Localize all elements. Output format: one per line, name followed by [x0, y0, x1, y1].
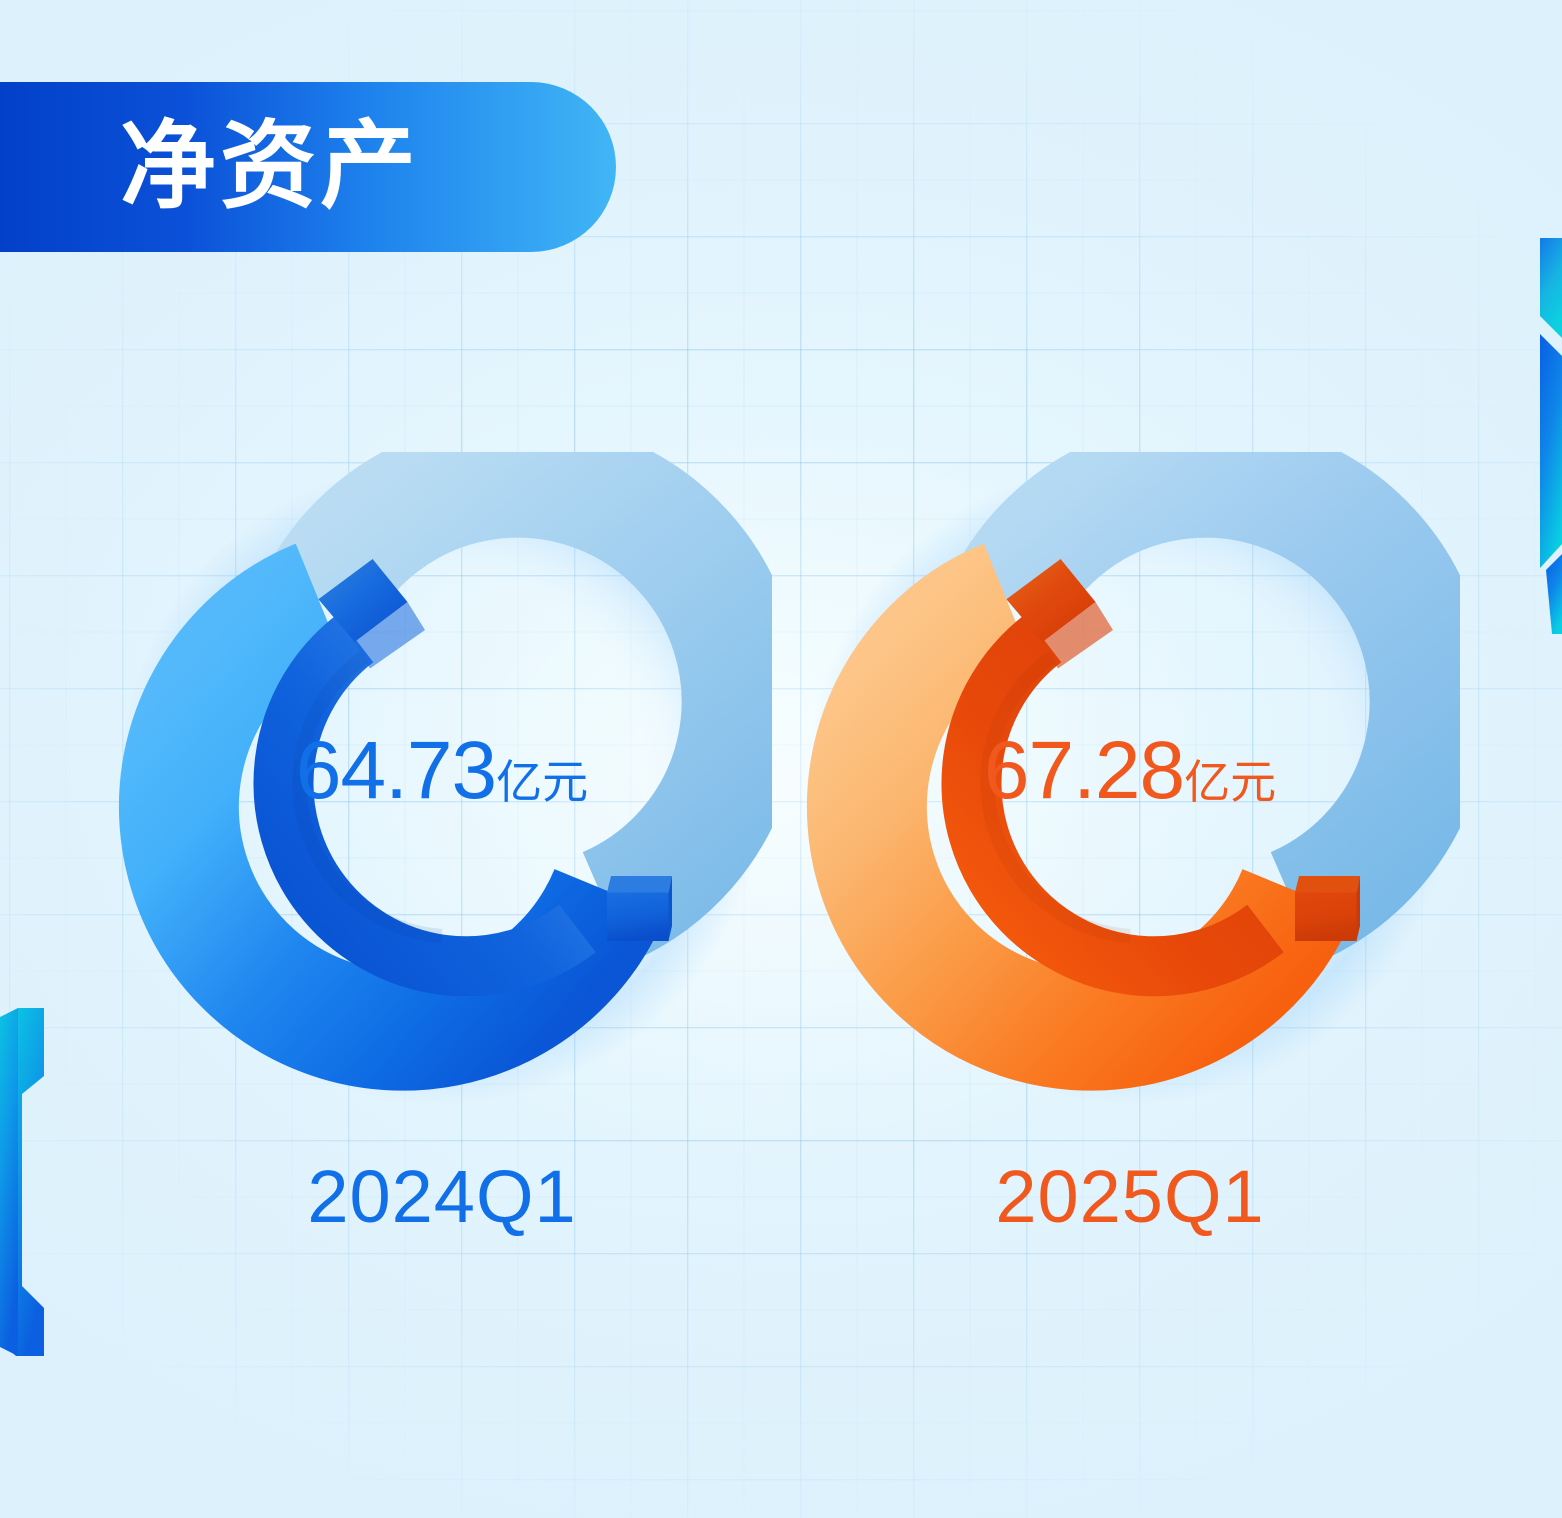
infographic-canvas: 净资产	[0, 0, 1562, 1518]
period-label-2025q1: 2025Q1	[800, 1160, 1460, 1234]
donut-charts-row: 64.73亿元 2024Q1	[0, 452, 1562, 1152]
donut-ring-2025q1	[800, 452, 1460, 1112]
chart-2024q1: 64.73亿元 2024Q1	[112, 452, 772, 1152]
period-label-2024q1: 2024Q1	[112, 1160, 772, 1234]
section-title-badge: 净资产	[0, 82, 616, 252]
chart-2025q1: 67.28亿元 2025Q1	[800, 452, 1460, 1152]
donut-ring-2024q1	[112, 452, 772, 1112]
page-title: 净资产	[120, 119, 420, 215]
